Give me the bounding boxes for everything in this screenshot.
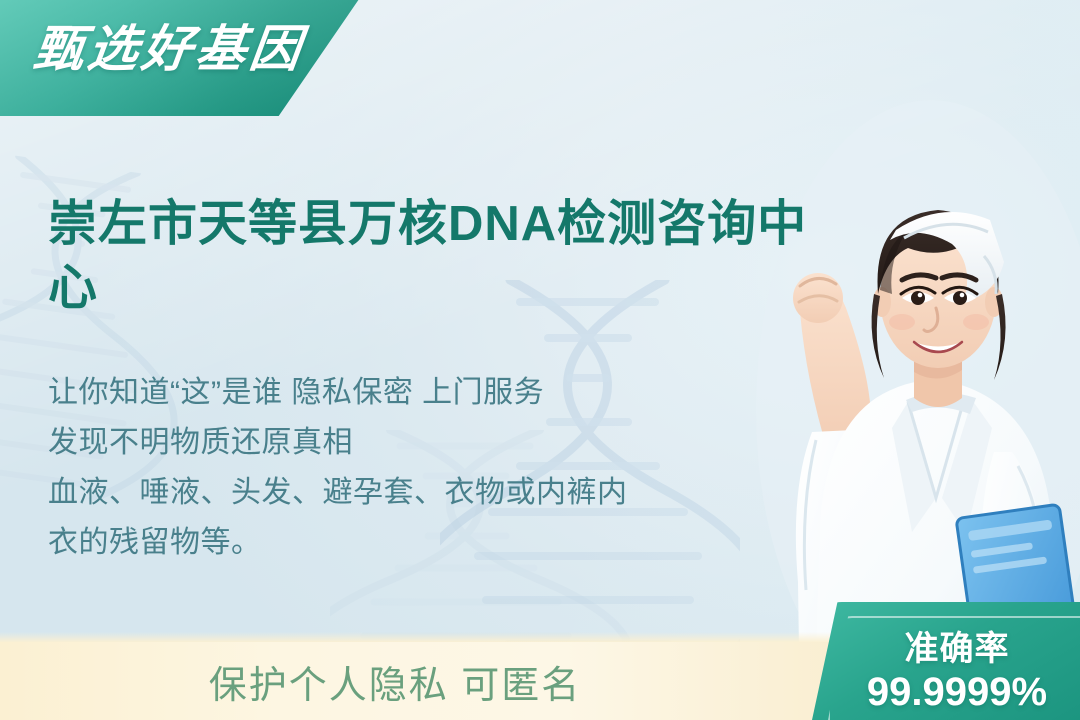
description-line-2: 发现不明物质还原真相 bbox=[48, 418, 768, 468]
accuracy-badge-value: 99.9999% bbox=[842, 669, 1072, 716]
description-line-4: 衣的残留物等。 bbox=[48, 518, 768, 568]
description-line-3: 血液、唾液、头发、避孕套、衣物或内裤内 bbox=[48, 468, 768, 518]
banner-canvas: 甄选好基因 崇左市天等县万核DNA检测咨询中心 让你知道“这”是谁 隐私保密 上… bbox=[0, 0, 1080, 720]
footer-slogan: 保护个人隐私 可匿名 bbox=[0, 642, 790, 720]
description-block: 让你知道“这”是谁 隐私保密 上门服务 发现不明物质还原真相 血液、唾液、头发、… bbox=[48, 368, 768, 568]
brand-logo-text: 甄选好基因 bbox=[31, 23, 307, 76]
accuracy-badge-label: 准确率 bbox=[842, 629, 1072, 669]
accuracy-badge-text: 准确率 99.9999% bbox=[842, 629, 1072, 716]
page-title: 崇左市天等县万核DNA检测咨询中心 bbox=[48, 193, 838, 320]
description-line-1: 让你知道“这”是谁 隐私保密 上门服务 bbox=[48, 368, 768, 418]
